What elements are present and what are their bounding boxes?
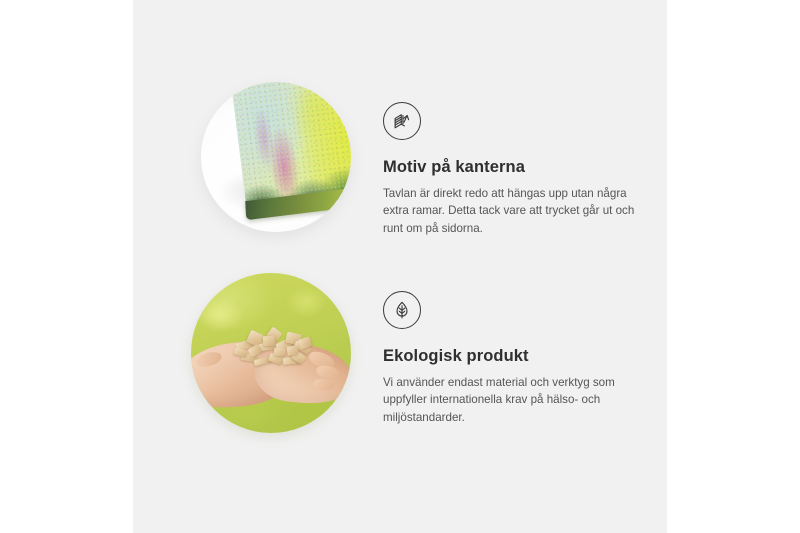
feature-body: Vi använder endast material och verktyg … bbox=[383, 374, 635, 427]
feature-row-canvas-edges: Motiv på kanterna Tavlan är direkt redo … bbox=[133, 74, 667, 254]
feature-content: Ekologisk produkt Vi använder endast mat… bbox=[383, 291, 653, 427]
feature-title: Ekologisk produkt bbox=[383, 347, 653, 367]
feature-title: Motiv på kanterna bbox=[383, 158, 653, 178]
wood-chip bbox=[274, 348, 286, 357]
leaf-icon bbox=[383, 291, 421, 329]
feature-content: Motiv på kanterna Tavlan är direkt redo … bbox=[383, 102, 653, 238]
feature-body: Tavlan är direkt redo att hängas upp uta… bbox=[383, 185, 635, 238]
infographic-stage: Motiv på kanterna Tavlan är direkt redo … bbox=[0, 0, 800, 533]
feature-row-eco-product: Ekologisk produkt Vi använder endast mat… bbox=[133, 273, 667, 443]
wood-chip bbox=[262, 336, 274, 347]
canvas-print-corner-photo bbox=[201, 82, 351, 232]
hands-holding-wood-chips-photo bbox=[191, 273, 351, 433]
wood-chip-pile bbox=[233, 326, 316, 377]
canvas-block bbox=[231, 82, 351, 211]
canvas-wrapped-edges-icon bbox=[383, 102, 421, 140]
